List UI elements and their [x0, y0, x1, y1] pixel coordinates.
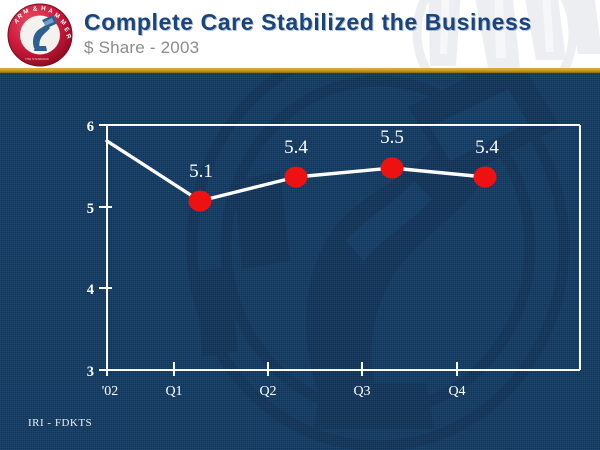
y-tick-label-6: 6: [87, 119, 94, 135]
line-chart: 6 5 4 3 '02 Q1 Q2 Q3 Q4: [0, 73, 600, 450]
y-tick-label-4: 4: [87, 282, 94, 298]
slide: A R M & H A M M E R THE STANDARD Complet…: [0, 0, 600, 450]
page-title: Complete Care Stabilized the Business: [84, 8, 594, 36]
slide-header: A R M & H A M M E R THE STANDARD Complet…: [0, 0, 600, 68]
x-tick-label-02: '02: [102, 384, 119, 399]
data-label-q3: 5.5: [380, 127, 404, 148]
x-tick-label-q4: Q4: [448, 384, 465, 399]
page-subtitle: $ Share - 2003: [84, 37, 594, 59]
data-label-q4: 5.4: [475, 137, 499, 158]
title-block: Complete Care Stabilized the Business $ …: [84, 8, 594, 59]
source-footnote: IRI - FDKTS: [28, 417, 92, 429]
series-markers: [189, 158, 497, 212]
x-tick-label-q1: Q1: [165, 384, 182, 399]
y-tick-label-5: 5: [87, 201, 94, 217]
x-tick-label-q2: Q2: [259, 384, 276, 399]
arm-and-hammer-logo: A R M & H A M M E R THE STANDARD: [6, 2, 74, 68]
data-point-q1: [189, 191, 212, 212]
data-point-q2: [285, 167, 308, 188]
data-point-q4: [474, 167, 497, 188]
data-label-q2: 5.4: [284, 137, 308, 158]
svg-text:THE STANDARD: THE STANDARD: [25, 57, 50, 61]
y-tick-label-3: 3: [87, 364, 94, 380]
x-tick-label-q3: Q3: [353, 384, 370, 399]
data-label-q1: 5.1: [189, 161, 213, 182]
data-point-q3: [381, 158, 404, 179]
slide-body: 6 5 4 3 '02 Q1 Q2 Q3 Q4: [0, 73, 600, 450]
